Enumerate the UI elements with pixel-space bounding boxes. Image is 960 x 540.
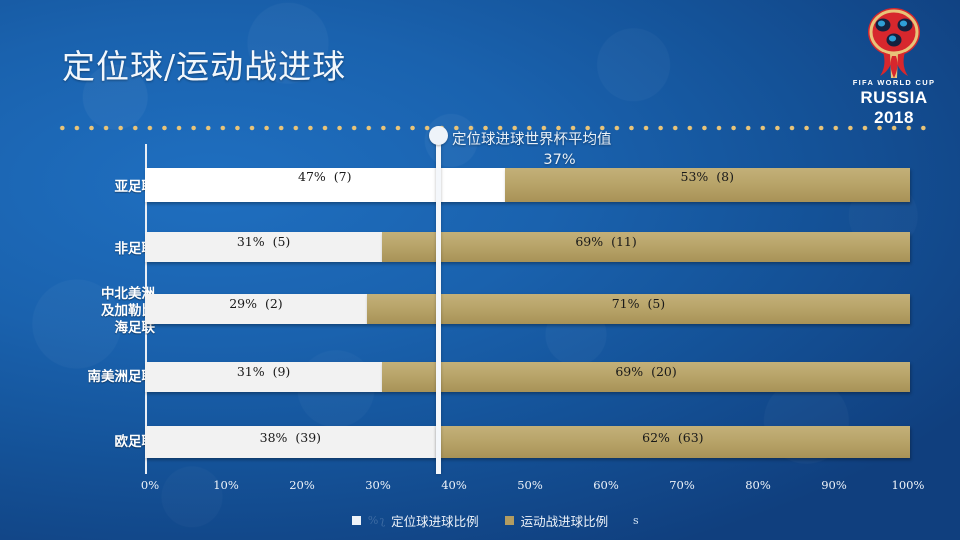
bar-label-openplay: 53% (8) (622, 168, 792, 186)
average-marker-dot-icon (429, 126, 448, 145)
chart-row: 非足联 31% (5) 69% (11) (0, 232, 960, 272)
axis-tick: 50% (500, 478, 560, 492)
legend-label: 定位球进球比例 (391, 511, 479, 530)
page-title: 定位球/运动战进球 (62, 40, 346, 88)
axis-tick: 90% (804, 478, 864, 492)
legend-swatch-icon (505, 516, 514, 525)
chart-row: 欧足联 38% (39) 62% (63) (0, 426, 960, 466)
category-label: 非足联 (5, 241, 155, 258)
axis-tick: 10% (196, 478, 256, 492)
average-label-value: 37% (452, 150, 667, 170)
bar-label-setpiece: 47% (7) (240, 168, 410, 186)
average-reference-line (436, 130, 441, 474)
chart-row: 中北美洲 及加勒比 海足联 29% (2) 71% (5) (0, 294, 960, 334)
axis-tick: 100% (878, 478, 938, 492)
legend-label: 运动战进球比例 (521, 511, 609, 530)
logo-line-1: FIFA WORLD CUP (842, 78, 946, 87)
legend-stray-glyph-right: s (633, 514, 639, 527)
bar-label-setpiece: 31% (9) (179, 363, 349, 381)
chart-row: 南美洲足联 31% (9) 69% (20) (0, 362, 960, 402)
bar-track[interactable]: 38% (39) 62% (63) (145, 426, 910, 458)
axis-tick: 60% (576, 478, 636, 492)
bar-label-openplay: 69% (20) (561, 363, 731, 381)
chart-legend: % ʅ 定位球进球比例 运动战进球比例 s (0, 505, 960, 535)
slide-background: 定位球/运动战进球 FIFA WORLD CUP RUSSIA 2018 亚足联 (0, 0, 960, 540)
axis-tick: 80% (728, 478, 788, 492)
bar-label-openplay: 62% (63) (588, 429, 758, 447)
bar-track[interactable]: 31% (9) 69% (20) (145, 362, 910, 392)
bar-label-setpiece: 29% (2) (171, 295, 341, 313)
x-axis-ticks: 0% 10% 20% 30% 40% 50% 60% 70% 80% 90% 1… (0, 478, 960, 498)
fifa-world-cup-logo: FIFA WORLD CUP RUSSIA 2018 (842, 4, 946, 116)
bar-track[interactable]: 47% (7) 53% (8) (145, 168, 910, 202)
bar-label-openplay: 69% (11) (561, 233, 651, 251)
axis-tick: 0% (120, 478, 180, 492)
legend-swatch-icon (352, 516, 361, 525)
legend-item-openplay[interactable]: 运动战进球比例 (505, 511, 609, 530)
legend-item-setpiece[interactable]: % ʅ 定位球进球比例 (352, 511, 479, 530)
bar-track[interactable]: 31% (5) 69% (11) (145, 232, 910, 262)
bar-label-openplay: 71% (5) (553, 295, 723, 313)
bar-label-setpiece: 38% (39) (205, 429, 375, 447)
chart-row: 亚足联 47% (7) 53% (8) (0, 168, 960, 208)
axis-tick: 40% (424, 478, 484, 492)
average-marker-label: 定位球进球世界杯平均值 37% (452, 130, 752, 170)
category-label: 中北美洲 及加勒比 海足联 (5, 286, 155, 337)
stacked-bar-chart: 亚足联 47% (7) 53% (8) 非足联 (0, 140, 960, 540)
average-label-text: 定位球进球世界杯平均值 (452, 132, 612, 148)
category-label: 南美洲足联 (5, 369, 155, 386)
axis-tick: 30% (348, 478, 408, 492)
world-cup-trophy-icon (862, 6, 926, 82)
category-label: 亚足联 (5, 179, 155, 196)
bar-track[interactable]: 29% (2) 71% (5) (145, 294, 910, 324)
bar-label-setpiece: 31% (5) (179, 233, 349, 251)
axis-tick: 70% (652, 478, 712, 492)
category-label: 欧足联 (5, 434, 155, 451)
axis-tick: 20% (272, 478, 332, 492)
legend-stray-glyph: % ʅ (368, 514, 384, 527)
